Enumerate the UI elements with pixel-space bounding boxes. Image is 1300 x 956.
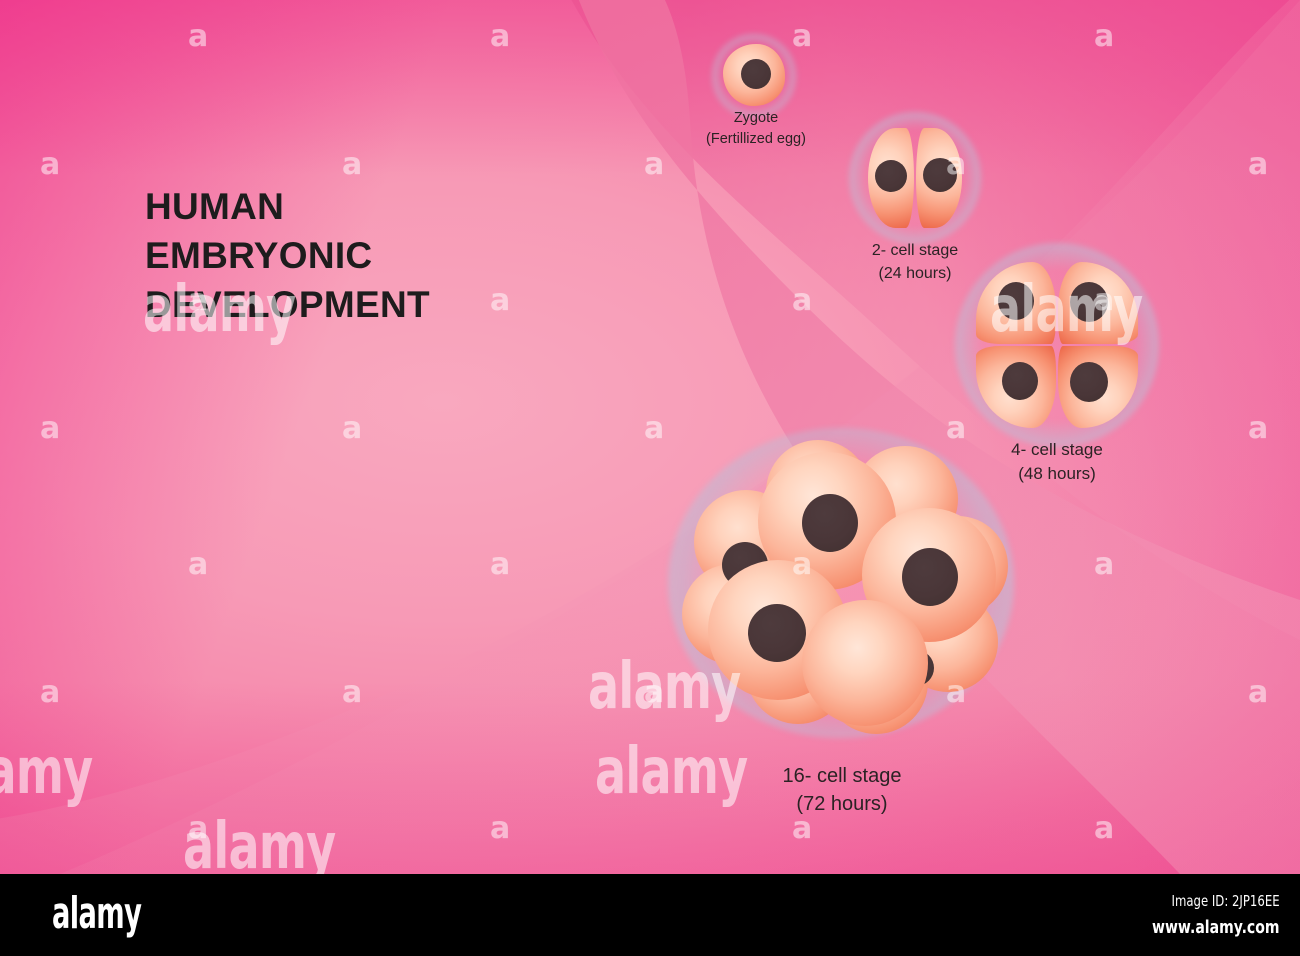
label-zygote-sub: (Fertillized egg) (656, 129, 856, 150)
label-sixteen-cell-sub: (72 hours) (740, 790, 944, 818)
alamy-footer-bar: alamy Image ID: 2JP16EE www.alamy.com (0, 874, 1300, 956)
zygote-nucleus (741, 59, 771, 89)
morula-cell-front-4 (802, 600, 928, 726)
alamy-logo: alamy (52, 892, 141, 936)
label-sixteen-cell: 16- cell stage (72 hours) (740, 762, 944, 819)
illustration-canvas: HUMAN EMBRYONIC DEVELOPMENT Zygote (Fert… (0, 0, 1300, 956)
title-line-2: EMBRYONIC (145, 231, 575, 280)
alamy-url-text: www.alamy.com (1152, 917, 1280, 938)
four-cell-group (952, 240, 1162, 450)
blastomere-top-right-nucleus (1070, 282, 1108, 322)
blastomere-1-nucleus (875, 160, 907, 192)
image-id-text: Image ID: 2JP16EE (1172, 892, 1280, 910)
stage-four-cell (952, 240, 1162, 450)
title-line-1: HUMAN (145, 182, 575, 231)
morula-nucleus-front-2 (902, 548, 958, 606)
morula-nucleus-front-3 (748, 604, 806, 662)
blastomere-bottom-right-nucleus (1070, 362, 1108, 402)
label-zygote-name: Zygote (656, 108, 856, 129)
stage-two-cell (845, 108, 985, 248)
blastomere-bottom-left-nucleus (1002, 362, 1038, 400)
stage-sixteen-cell (662, 424, 1020, 740)
title-line-3: DEVELOPMENT (145, 280, 575, 329)
morula-cell-group (662, 424, 1020, 740)
blastomere-top-left-nucleus (998, 282, 1034, 320)
artwork-area: HUMAN EMBRYONIC DEVELOPMENT Zygote (Fert… (0, 0, 1300, 874)
label-zygote: Zygote (Fertillized egg) (656, 108, 856, 149)
morula-nucleus-front-1 (802, 494, 858, 552)
page-title: HUMAN EMBRYONIC DEVELOPMENT (145, 182, 575, 330)
blastomere-2-nucleus (923, 158, 957, 192)
two-cell-group (845, 108, 985, 248)
label-sixteen-cell-name: 16- cell stage (740, 762, 944, 790)
